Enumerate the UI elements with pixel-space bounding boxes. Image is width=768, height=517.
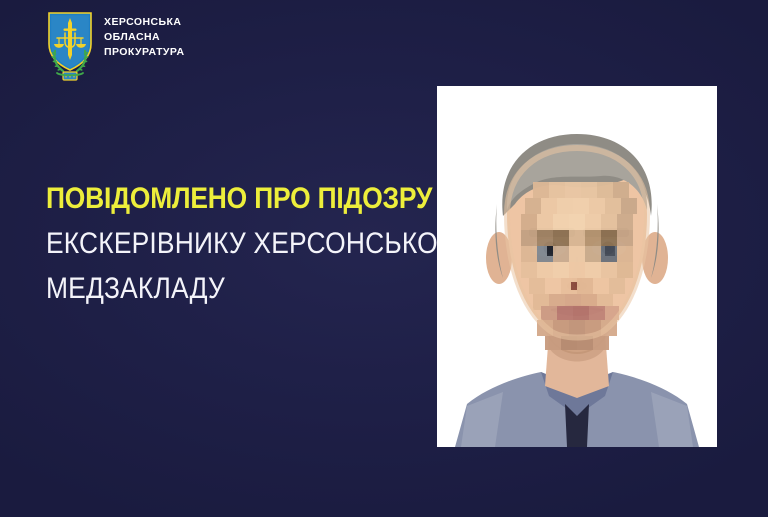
organization-name-line-2: ОБЛАСНА bbox=[104, 31, 184, 44]
organization-name-line-1: ХЕРСОНСЬКА bbox=[104, 16, 184, 29]
organization-name-line-3: ПРОКУРАТУРА bbox=[104, 46, 184, 59]
headline-sub-line-1: ЕКСКЕРІВНИКУ ХЕРСОНСЬКОГО bbox=[46, 221, 385, 266]
organization-name: ХЕРСОНСЬКА ОБЛАСНА ПРОКУРАТУРА bbox=[104, 11, 184, 59]
headline-accent-line: ПОВІДОМЛЕНО ПРО ПІДОЗРУ bbox=[46, 176, 385, 221]
suspect-photo-frame bbox=[437, 86, 717, 447]
headline-sub-line-2: МЕДЗАКЛАДУ bbox=[46, 266, 385, 311]
pixelated-suspect-portrait bbox=[437, 86, 717, 447]
headline-block: ПОВІДОМЛЕНО ПРО ПІДОЗРУ ЕКСКЕРІВНИКУ ХЕР… bbox=[46, 176, 431, 311]
organization-logo: ХЕРСОНСЬКА ОБЛАСНА ПРОКУРАТУРА bbox=[46, 11, 184, 85]
prosecutors-office-emblem-icon bbox=[46, 11, 94, 85]
press-release-banner: ХЕРСОНСЬКА ОБЛАСНА ПРОКУРАТУРА ПОВІДОМЛЕ… bbox=[0, 0, 768, 517]
